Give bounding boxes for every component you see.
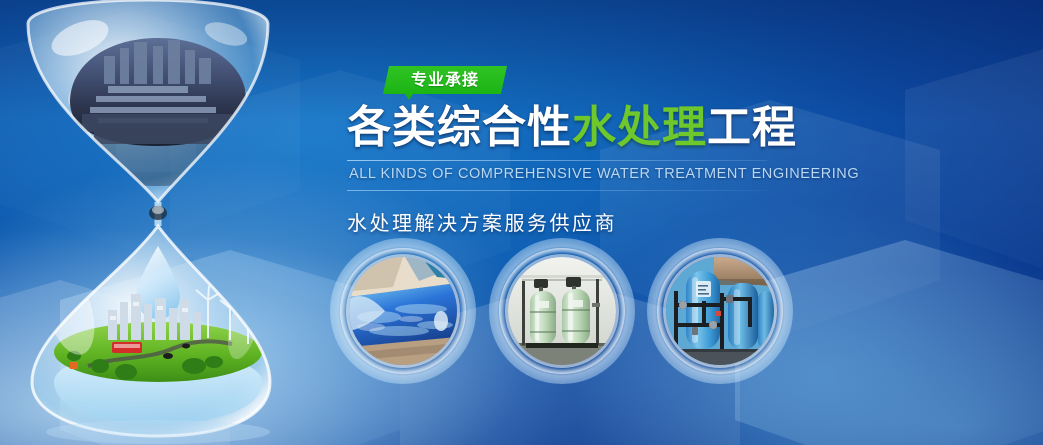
badge-label: 专业承接 (383, 68, 507, 94)
badge-professional-undertaking: 专业承接 (383, 66, 507, 100)
page-title: 各类综合性水处理工程 (347, 102, 767, 154)
hourglass-bottom-bulb (32, 226, 270, 444)
photo-blue-industrial-filters[interactable] (647, 238, 793, 384)
tagline-chinese: 水处理解决方案服务供应商 (347, 207, 767, 236)
hourglass-neck (149, 202, 167, 226)
circle-photo-3 (666, 257, 774, 365)
hourglass-top-bulb (28, 0, 268, 202)
title-part-highlight: 水处理 (572, 103, 707, 152)
hourglass-water-drop-illustration (8, 0, 298, 445)
product-photo-circles (330, 238, 820, 388)
subtitle-english: ALL KINDS OF COMPREHENSIVE WATER TREATME… (347, 161, 767, 186)
photo-frp-filter-tanks[interactable] (489, 238, 635, 384)
title-part-1: 各类综合性 (347, 103, 572, 152)
water-treatment-banner: 专业承接 各类综合性水处理工程 ALL KINDS OF COMPREHENSI… (0, 0, 1043, 445)
circle-photo-2 (508, 257, 616, 365)
photo-swimming-pool-water[interactable] (330, 238, 476, 384)
title-part-2: 工程 (707, 103, 797, 152)
divider-bottom (347, 190, 767, 191)
headline-block: 专业承接 各类综合性水处理工程 ALL KINDS OF COMPREHENSI… (347, 66, 767, 236)
circle-photo-1 (349, 257, 457, 365)
